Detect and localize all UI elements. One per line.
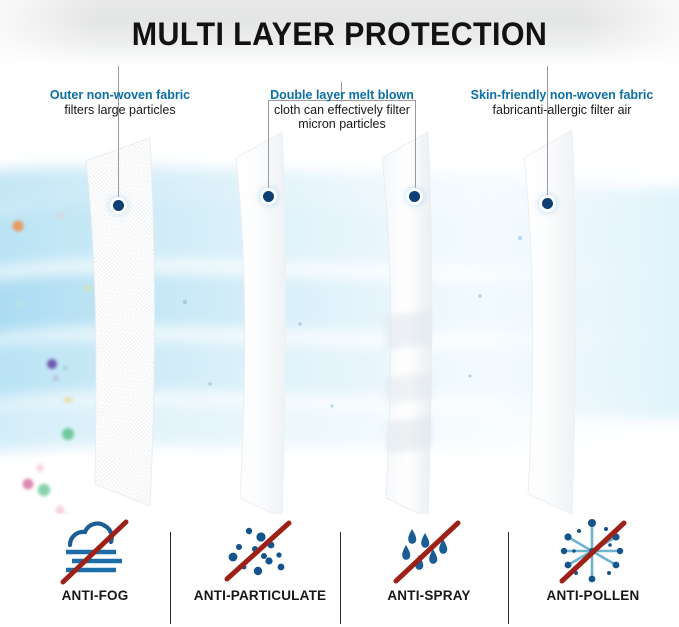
leader-line-outer [118, 66, 119, 203]
callout-skin-friendly-subtitle: fabricanti-allergic filter air [448, 103, 676, 117]
callout-skin-friendly-title: Skin-friendly non-woven fabric [448, 88, 676, 103]
callout-skin-friendly: Skin-friendly non-woven fabric fabricant… [448, 88, 676, 117]
callout-melt-blown-subtitle-line1: cloth can effectively filter [246, 103, 438, 117]
feature-divider-3 [508, 532, 509, 624]
feature-anti-particulate[interactable]: ANTI-PARTICULATE [180, 514, 340, 627]
feature-anti-pollen[interactable]: ANTI-POLLEN [518, 514, 668, 627]
callout-outer-layer: Outer non-woven fabric filters large par… [10, 88, 230, 117]
pollen-icon-wrap [518, 514, 668, 588]
feature-anti-fog[interactable]: ANTI-FOG [20, 514, 170, 627]
callout-melt-blown-title: Double layer melt blown [246, 88, 438, 103]
callout-outer-layer-subtitle: filters large particles [10, 103, 230, 117]
feature-divider-1 [170, 532, 171, 624]
feature-anti-spray[interactable]: ANTI-SPRAY [350, 514, 508, 627]
marker-dot-skin-friendly [542, 198, 553, 209]
spray-icon-wrap [350, 514, 508, 588]
pollen-icon [552, 515, 634, 587]
callout-outer-layer-title: Outer non-woven fabric [10, 88, 230, 103]
mask-cross-section-scene [0, 66, 679, 514]
feature-divider-2 [340, 532, 341, 624]
feature-anti-pollen-label: ANTI-POLLEN [518, 588, 668, 603]
feature-anti-particulate-label: ANTI-PARTICULATE [180, 588, 340, 603]
feature-anti-spray-label: ANTI-SPRAY [350, 588, 508, 603]
multi-layer-protection-infographic: MULTI LAYER PROTECTION [0, 0, 679, 627]
callout-melt-blown-subtitle-line2: micron particles [246, 117, 438, 131]
page-title: MULTI LAYER PROTECTION [17, 16, 662, 52]
marker-dot-outer-layer [113, 200, 124, 211]
fog-icon [54, 515, 136, 587]
particulate-icon [219, 515, 301, 587]
layer-outer-non-woven [86, 138, 155, 506]
spray-icon [388, 515, 470, 587]
particulate-icon-wrap [180, 514, 340, 588]
marker-dot-melt-blown-2 [409, 191, 420, 202]
fog-icon-wrap [20, 514, 170, 588]
callout-melt-blown: Double layer melt blown cloth can effect… [246, 88, 438, 131]
marker-dot-melt-blown-1 [263, 191, 274, 202]
feature-anti-fog-label: ANTI-FOG [20, 588, 170, 603]
feature-strip: ANTI-FOG [0, 514, 679, 627]
leader-line-skin-friendly [547, 66, 548, 201]
